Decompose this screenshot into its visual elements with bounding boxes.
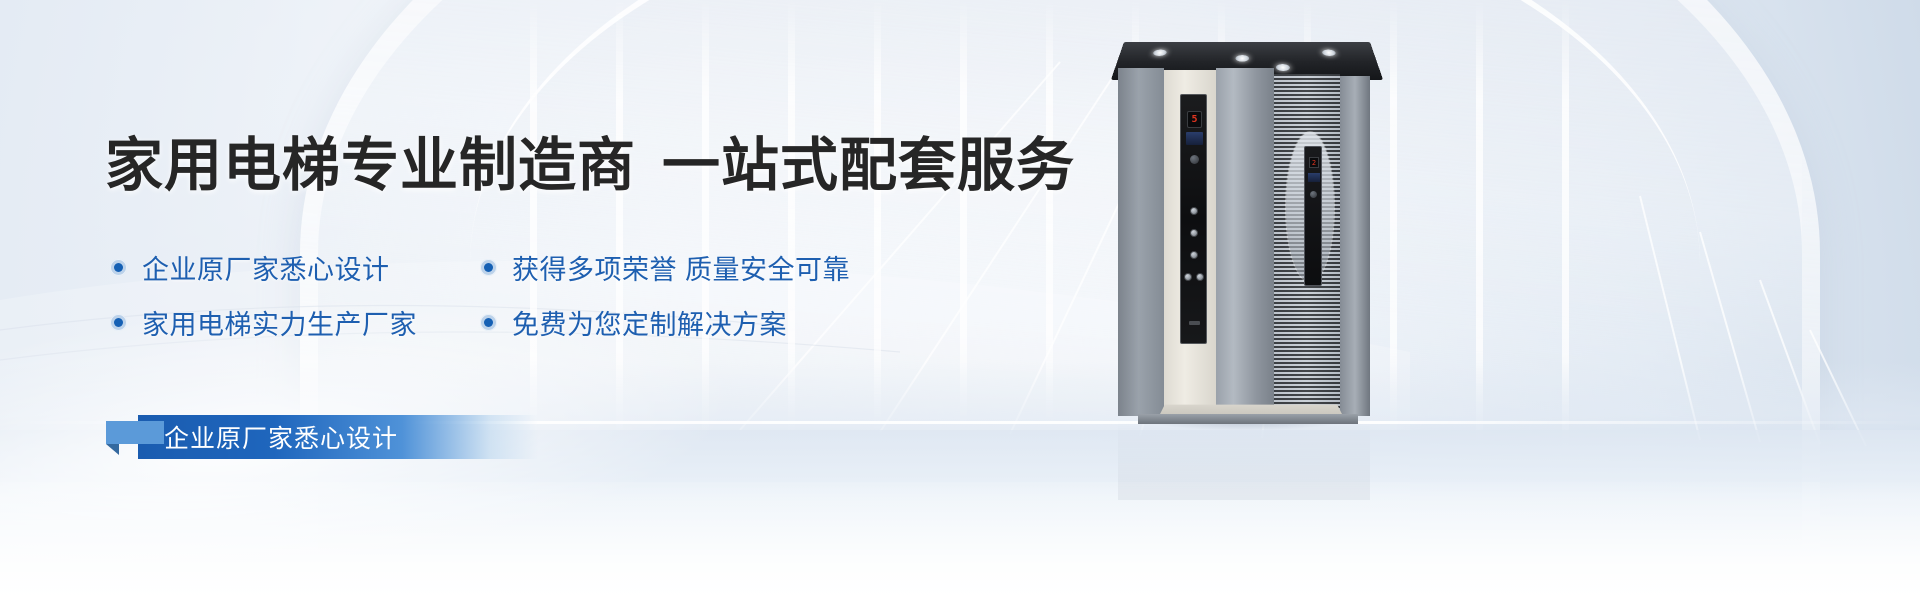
bullet-dot-icon: [480, 259, 497, 276]
door-close-button: [1196, 273, 1204, 281]
feature-list: 企业原厂家悉心设计 获得多项荣誉 质量安全可靠 家用电梯实力生产厂家 免费为您定…: [110, 248, 970, 358]
feature-label: 企业原厂家悉心设计: [142, 248, 390, 287]
ribbon-fold-tab: [106, 421, 164, 444]
elevator-back-wall: [1216, 68, 1274, 418]
floor-display-reflection: 2: [1309, 157, 1319, 168]
brand-badge-reflection: [1308, 173, 1320, 182]
hero-banner: 5 2: [0, 0, 1920, 600]
elevator-mirror-wall: 2: [1274, 74, 1340, 418]
elevator-control-panel-reflection: 2: [1304, 146, 1322, 286]
floor-button-3: [1190, 229, 1198, 237]
speaker-icon-reflection: [1310, 191, 1317, 198]
list-item: 免费为您定制解决方案: [480, 303, 900, 342]
panel-logo: [1189, 321, 1200, 325]
speaker-icon: [1190, 155, 1199, 164]
list-item: 家用电梯实力生产厂家: [110, 303, 480, 342]
door-open-button: [1184, 273, 1192, 281]
floor-button-2: [1190, 251, 1198, 259]
headline-part-2: 一站式配套服务: [662, 133, 1075, 198]
elevator-cabin-body: 5 2: [1118, 68, 1370, 420]
elevator-right-wall: [1340, 76, 1370, 416]
ribbon-label: 企业原厂家悉心设计: [164, 419, 398, 455]
elevator-control-panel[interactable]: 5: [1180, 94, 1207, 344]
bullet-dot-icon: [110, 314, 127, 331]
home-elevator-cabin: 5 2: [1118, 42, 1370, 420]
headline-part-1: 家用电梯专业制造商: [105, 133, 636, 198]
feature-row: 家用电梯实力生产厂家 免费为您定制解决方案: [110, 303, 970, 342]
list-item: 获得多项荣誉 质量安全可靠: [480, 248, 900, 287]
feature-label: 获得多项荣誉 质量安全可靠: [512, 248, 850, 287]
elevator-reflection: [1118, 420, 1370, 500]
feature-row: 企业原厂家悉心设计 获得多项荣誉 质量安全可靠: [110, 248, 970, 287]
feature-label: 免费为您定制解决方案: [512, 303, 787, 342]
floor-display: 5: [1187, 111, 1202, 128]
copy-block: 家用电梯专业制造商一站式配套服务 企业原厂家悉心设计 获得多项荣誉 质量安全可靠…: [0, 0, 1100, 600]
list-item: 企业原厂家悉心设计: [110, 248, 480, 287]
brand-badge: [1186, 132, 1203, 145]
floor-button-4: [1190, 207, 1198, 215]
page-title: 家用电梯专业制造商一站式配套服务: [105, 118, 1075, 202]
elevator-left-wall: [1118, 68, 1164, 416]
highlight-ribbon: 企业原厂家悉心设计: [138, 415, 538, 459]
feature-label: 家用电梯实力生产厂家: [142, 303, 417, 342]
bullet-dot-icon: [480, 314, 497, 331]
bullet-dot-icon: [110, 259, 127, 276]
